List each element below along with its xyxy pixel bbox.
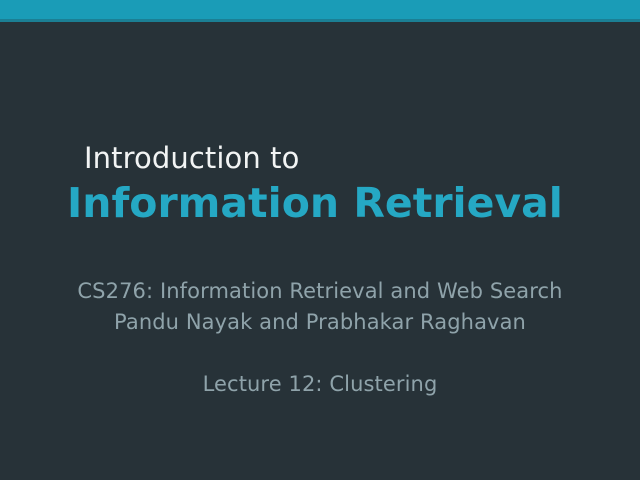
subtitle-course: CS276: Information Retrieval and Web Sea… (0, 276, 640, 307)
top-accent-bar (0, 0, 640, 19)
subtitle-block: CS276: Information Retrieval and Web Sea… (0, 276, 640, 400)
top-accent-bar-edge (0, 19, 640, 22)
title-pre-line: Introduction to (0, 139, 640, 177)
title-block: Introduction to Information Retrieval (0, 139, 640, 229)
title-main-line: Information Retrieval (0, 177, 640, 229)
subtitle-authors: Pandu Nayak and Prabhakar Raghavan (0, 307, 640, 338)
subtitle-lecture: Lecture 12: Clustering (0, 369, 640, 400)
title-slide: Introduction to Information Retrieval CS… (0, 0, 640, 480)
